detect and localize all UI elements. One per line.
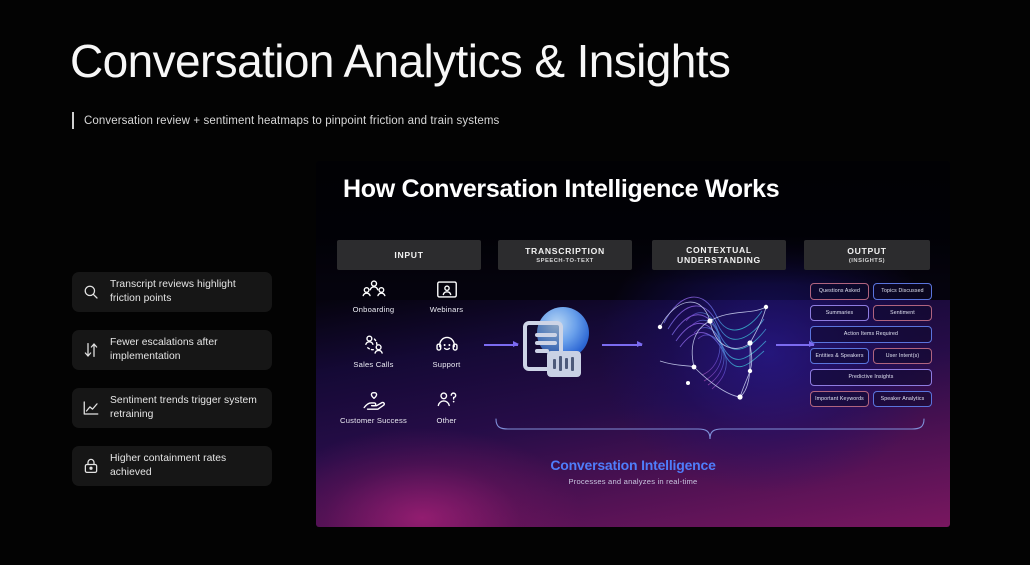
stage-header-input: INPUT <box>337 240 481 270</box>
page-subtitle: Conversation review + sentiment heatmaps… <box>84 115 499 127</box>
input-category: Other <box>413 390 480 425</box>
footer-subtitle: Processes and analyzes in real-time <box>316 477 950 486</box>
flow-arrow-input-to-transcription <box>484 344 518 346</box>
stage-subtitle: SPEECH-TO-TEXT <box>536 258 593 264</box>
stage-header-transcription: TRANSCRIPTION SPEECH-TO-TEXT <box>498 240 632 270</box>
neural-network-visual <box>646 271 796 421</box>
stage-title: TRANSCRIPTION <box>525 246 605 256</box>
slide-root: Conversation Analytics & Insights Conver… <box>0 0 1030 565</box>
input-category-label: Customer Success <box>340 416 407 425</box>
stage-title: OUTPUT <box>847 246 887 256</box>
feature-card-label: Fewer escalations after implementation <box>110 336 262 364</box>
stage-header-output: OUTPUT (INSIGHTS) <box>804 240 930 270</box>
insight-chip[interactable]: User Intent(s) <box>873 348 932 365</box>
feature-card-list: Transcript reviews highlight friction po… <box>72 272 272 504</box>
insight-chip[interactable]: Speaker Analytics <box>873 391 932 408</box>
feature-card-label: Sentiment trends trigger system retraini… <box>110 394 262 422</box>
insight-chip[interactable]: Questions Asked <box>810 283 869 300</box>
headset-support-icon <box>435 334 459 355</box>
page-title: Conversation Analytics & Insights <box>70 36 730 87</box>
stage-header-contextual-understanding: CONTEXTUAL UNDERSTANDING <box>652 240 786 270</box>
input-category-grid: Onboarding Webinars <box>340 279 480 425</box>
insight-chip-list: Questions Asked Topics Discussed Summari… <box>810 283 934 407</box>
presentation-person-icon <box>435 279 459 300</box>
stage-title: CONTEXTUAL UNDERSTANDING <box>652 245 786 265</box>
input-category-label: Onboarding <box>353 305 395 314</box>
group-people-icon <box>362 279 386 300</box>
subtitle-row: Conversation review + sentiment heatmaps… <box>72 112 499 129</box>
input-category-label: Webinars <box>430 305 464 314</box>
input-category-label: Sales Calls <box>353 360 393 369</box>
sort-arrows-icon <box>82 341 100 359</box>
insight-chip[interactable]: Summaries <box>810 305 869 322</box>
feature-card-label: Higher containment rates achieved <box>110 452 262 480</box>
line-chart-icon <box>82 399 100 417</box>
input-category-label: Support <box>433 360 461 369</box>
subtitle-accent-bar <box>72 112 74 129</box>
insight-chip[interactable]: Entities & Speakers <box>810 348 869 365</box>
insight-chip[interactable]: Topics Discussed <box>873 283 932 300</box>
input-category: Webinars <box>413 279 480 314</box>
input-category: Sales Calls <box>340 334 407 369</box>
input-category: Customer Success <box>340 390 407 425</box>
footer-title: Conversation Intelligence <box>316 457 950 473</box>
stage-title: INPUT <box>394 250 423 260</box>
flow-arrow-contextual-to-output <box>776 344 814 346</box>
input-category: Onboarding <box>340 279 407 314</box>
flow-arrow-transcription-to-contextual <box>602 344 642 346</box>
input-category: Support <box>413 334 480 369</box>
feature-card[interactable]: Fewer escalations after implementation <box>72 330 272 370</box>
lock-icon <box>82 457 100 475</box>
diagram-panel: How Conversation Intelligence Works INPU… <box>316 161 950 527</box>
insight-chip[interactable]: Action Items Required <box>810 326 932 343</box>
stage-subtitle: (INSIGHTS) <box>849 258 885 264</box>
person-question-icon <box>435 390 459 411</box>
insight-chip[interactable]: Important Keywords <box>810 391 869 408</box>
transcript-document-icon <box>521 309 593 381</box>
feature-card[interactable]: Higher containment rates achieved <box>72 446 272 486</box>
insight-chip[interactable]: Predictive Insights <box>810 369 932 386</box>
sales-call-icon <box>362 334 386 355</box>
feature-card[interactable]: Sentiment trends trigger system retraini… <box>72 388 272 428</box>
doc-waveform-card <box>547 351 581 377</box>
feature-card-label: Transcript reviews highlight friction po… <box>110 278 262 306</box>
heart-hand-icon <box>362 390 386 411</box>
insight-chip[interactable]: Sentiment <box>873 305 932 322</box>
input-category-label: Other <box>437 416 457 425</box>
diagram-footer: Conversation Intelligence Processes and … <box>316 457 950 486</box>
summary-bracket <box>492 417 928 443</box>
feature-card[interactable]: Transcript reviews highlight friction po… <box>72 272 272 312</box>
diagram-title: How Conversation Intelligence Works <box>343 175 779 204</box>
search-icon <box>82 283 100 301</box>
